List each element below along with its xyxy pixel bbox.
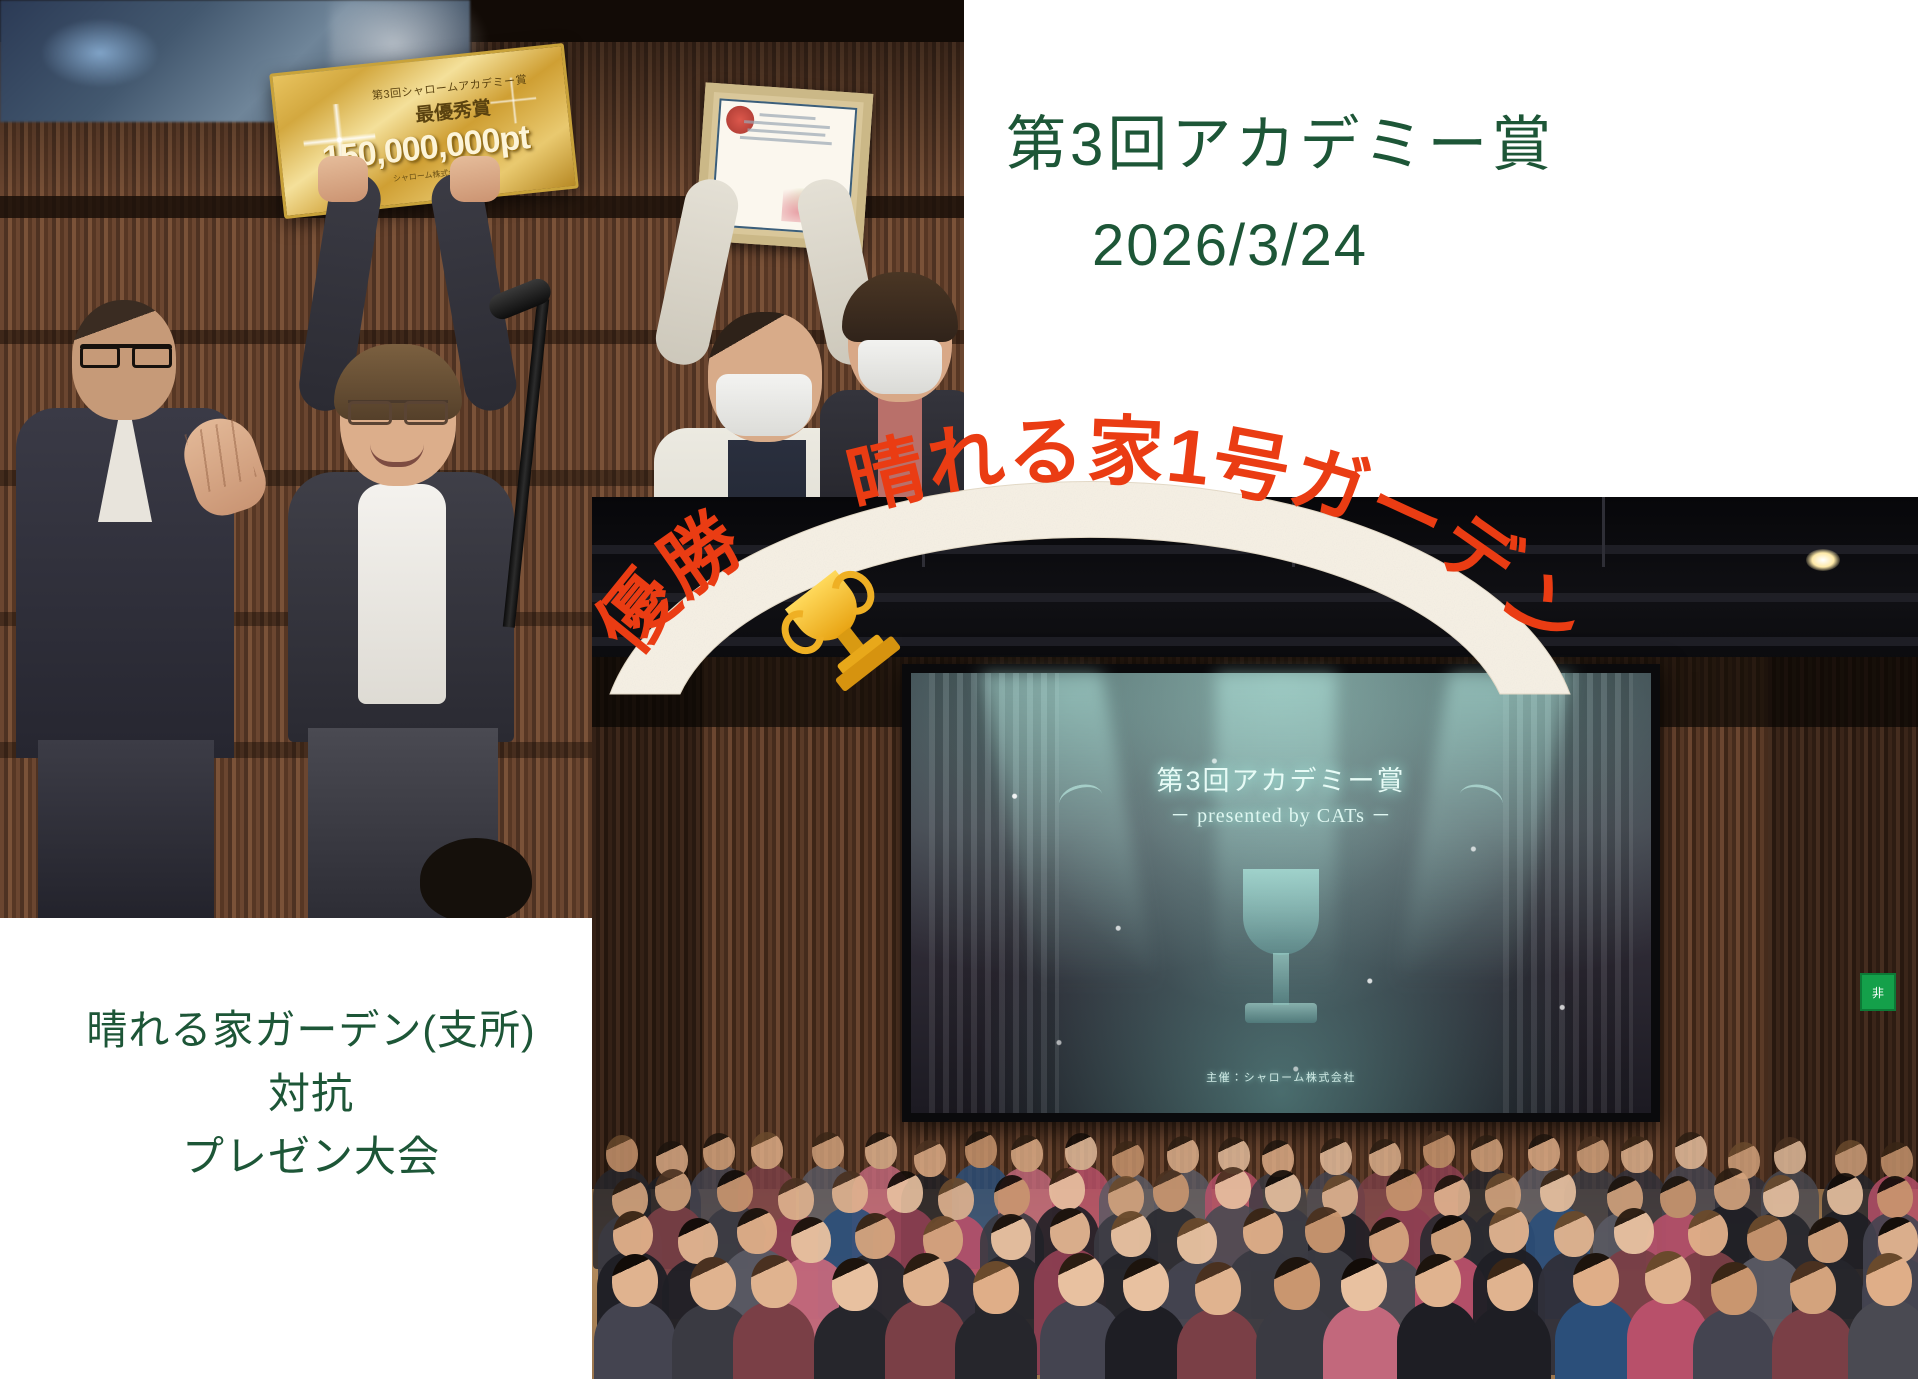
crowd-person-head <box>1423 1131 1455 1168</box>
crowd-person-head <box>1747 1215 1787 1261</box>
crowd-person-head <box>1111 1211 1151 1257</box>
crowd-person <box>594 1300 676 1379</box>
crowd-person-head <box>1877 1176 1913 1218</box>
crowd-person-head <box>606 1135 638 1172</box>
certificate-text-line <box>744 120 830 129</box>
crowd-person <box>1323 1304 1405 1379</box>
slide-trophy-icon <box>1221 869 1341 1059</box>
crowd-person-head <box>1305 1207 1345 1253</box>
crowd-person <box>1848 1299 1918 1379</box>
crowd-person-head <box>737 1208 777 1254</box>
caption-line-2: 対抗 <box>56 1062 566 1125</box>
crowd-person-head <box>1577 1136 1609 1173</box>
glasses-icon <box>80 344 172 364</box>
crowd-person-head <box>1049 1168 1085 1210</box>
crowd-person-head <box>1050 1208 1090 1254</box>
trophy-base <box>1245 1003 1317 1023</box>
crowd-person <box>733 1301 815 1379</box>
crowd-person-head <box>1866 1253 1912 1306</box>
crowd-person-head <box>613 1211 653 1257</box>
crowd-of-attendees <box>592 1117 1918 1379</box>
crowd-person-head <box>1675 1132 1707 1169</box>
crowd-person-head <box>1167 1136 1199 1173</box>
person-raising-cheque <box>252 172 552 918</box>
slide-title: 第3回アカデミー賞 <box>911 759 1651 798</box>
crowd-person-head <box>791 1217 831 1263</box>
crowd-row <box>592 1263 1918 1379</box>
crowd-person <box>955 1307 1037 1379</box>
hand-right <box>450 156 500 202</box>
face-mask <box>716 374 812 436</box>
crowd-person-head <box>703 1133 735 1170</box>
crowd-person-head <box>1487 1258 1533 1311</box>
crowd-person-head <box>855 1213 895 1259</box>
crowd-person-head <box>751 1255 797 1308</box>
crowd-person <box>1772 1307 1854 1379</box>
crowd-person-head <box>1215 1167 1251 1209</box>
event-date: 2026/3/24 <box>1092 212 1368 279</box>
certificate-text-line <box>748 128 826 136</box>
crowd-person-head <box>1243 1208 1283 1254</box>
ceiling-beam <box>592 593 1918 602</box>
crowd-person-head <box>717 1170 753 1212</box>
audience-head-silhouette <box>420 838 532 918</box>
ceiling-beam <box>592 637 1918 646</box>
screen-wire <box>922 497 925 567</box>
crowd-person-head <box>655 1169 691 1211</box>
crowd-person-head <box>1808 1217 1848 1263</box>
crowd-person-head <box>1614 1208 1654 1254</box>
crowd-person-head <box>832 1258 878 1311</box>
crowd-person-head <box>903 1253 949 1306</box>
crowd-person-head <box>1123 1258 1169 1311</box>
crowd-person-head <box>812 1132 844 1169</box>
crowd-person-head <box>1827 1173 1863 1215</box>
crowd-person-head <box>1195 1262 1241 1315</box>
screen-wire <box>1602 497 1605 567</box>
face-mask <box>858 340 942 394</box>
certificate-text-line <box>740 136 831 145</box>
crowd-person-head <box>1645 1251 1691 1304</box>
crowd-person <box>1469 1304 1551 1379</box>
hall-ceiling <box>592 497 1918 673</box>
crowd-person-head <box>973 1261 1019 1314</box>
crowd-person-head <box>1540 1170 1576 1212</box>
group-photo: 非 第3回アカデミー賞 － presented by CATs － 主催：シャロ <box>592 497 1918 1379</box>
crowd-person-head <box>865 1132 897 1169</box>
caption-line-1: 晴れる家ガーデン(支所) <box>56 1000 566 1062</box>
crowd-person-head <box>1058 1253 1104 1306</box>
crowd-person-head <box>1415 1254 1461 1307</box>
crowd-person-head <box>1265 1170 1301 1212</box>
crowd-person-head <box>832 1171 868 1213</box>
certificate-text-line <box>759 113 815 120</box>
glasses-icon <box>348 400 448 421</box>
crowd-person-head <box>690 1257 736 1310</box>
crowd-person-head <box>1528 1134 1560 1171</box>
crowd-person-head <box>1471 1135 1503 1172</box>
crowd-person-head <box>1621 1136 1653 1173</box>
crowd-person-head <box>1790 1261 1836 1314</box>
crowd-person-head <box>1711 1262 1757 1315</box>
crowd-person-head <box>1341 1258 1387 1311</box>
crowd-person-head <box>965 1131 997 1168</box>
projected-slide: 第3回アカデミー賞 － presented by CATs － 主催：シャローム… <box>911 673 1651 1113</box>
crowd-person <box>1555 1299 1637 1379</box>
person-clapping-in-suit <box>10 300 240 918</box>
crowd-person <box>1397 1300 1479 1379</box>
screen-wire <box>1292 497 1295 567</box>
trousers <box>38 740 214 918</box>
crowd-person-head <box>1714 1168 1750 1210</box>
page-title: 第3回アカデミー賞 <box>1006 96 1555 183</box>
crowd-person <box>814 1304 896 1379</box>
crowd-person-head <box>887 1171 923 1213</box>
poster-canvas: 第3回シャロームアカデミー賞 最優秀賞 150,000,000pt シャローム株… <box>0 0 1918 1379</box>
crowd-person-head <box>994 1175 1030 1217</box>
crowd-person-head <box>1177 1218 1217 1264</box>
crowd-person-head <box>1660 1176 1696 1218</box>
crowd-person-head <box>1573 1253 1619 1306</box>
projection-screen: 第3回アカデミー賞 － presented by CATs － 主催：シャローム… <box>902 664 1660 1122</box>
crowd-person-head <box>1065 1133 1097 1170</box>
caption-line-3: プレゼン大会 <box>56 1125 566 1188</box>
ceiling-beam <box>592 545 1918 554</box>
crowd-person-head <box>1434 1175 1470 1217</box>
crowd-person-head <box>751 1132 783 1169</box>
crowd-person-head <box>1688 1210 1728 1256</box>
white-shirt <box>358 484 446 704</box>
crowd-person <box>1693 1308 1775 1379</box>
crowd-person-head <box>1274 1257 1320 1310</box>
slide-subtitle: － presented by CATs － <box>911 799 1651 828</box>
crowd-person <box>1105 1304 1187 1379</box>
emergency-exit-sign: 非 <box>1860 973 1896 1011</box>
crowd-person-head <box>612 1254 658 1307</box>
hand-left <box>318 156 368 202</box>
crowd-person <box>1177 1308 1259 1379</box>
crowd-person-head <box>1554 1211 1594 1257</box>
trophy-stem <box>1273 953 1289 1005</box>
crowd-person-head <box>1011 1135 1043 1172</box>
crowd-person-head <box>1369 1217 1409 1263</box>
crowd-person-head <box>1489 1207 1529 1253</box>
slide-footer: 主催：シャローム株式会社 <box>911 1069 1651 1085</box>
ceiling-spotlight-icon <box>1806 549 1840 571</box>
crowd-person-head <box>1386 1169 1422 1211</box>
hair <box>842 272 958 342</box>
crowd-person-head <box>991 1214 1031 1260</box>
caption-block: 晴れる家ガーデン(支所) 対抗 プレゼン大会 <box>56 1000 566 1188</box>
trophy-cup <box>1243 869 1319 955</box>
crowd-person-head <box>1763 1175 1799 1217</box>
crowd-person-head <box>1153 1170 1189 1212</box>
